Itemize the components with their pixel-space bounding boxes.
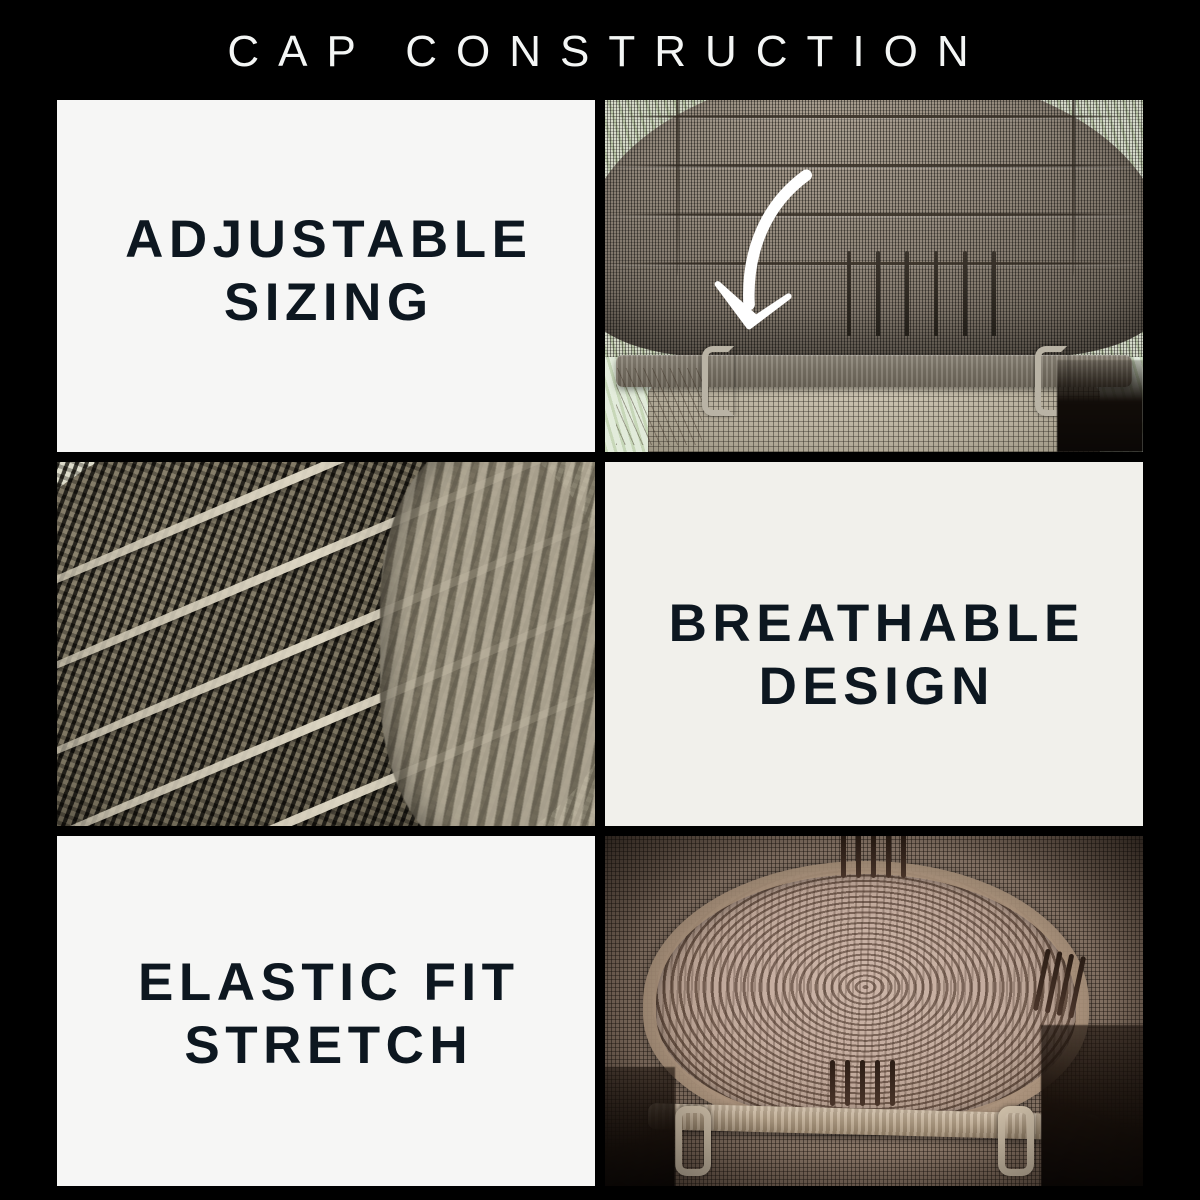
comb-tooth [876, 251, 880, 335]
comb-tooth [905, 251, 909, 335]
feature-photo-adjustable-strap [605, 100, 1143, 452]
feature-line-1: ADJUSTABLE [120, 209, 533, 272]
feature-cell-adjustable-sizing: ADJUSTABLE SIZING [57, 100, 595, 452]
feature-cell-elastic-fit-stretch: ELASTIC FIT STRETCH [57, 836, 595, 1186]
stray-hair-strands [616, 368, 702, 445]
feature-line-2: SIZING [120, 272, 533, 335]
feature-grid: ADJUSTABLE SIZING [57, 100, 1143, 1186]
poster-header: CAP CONSTRUCTION [0, 0, 1200, 100]
feature-line-1: BREATHABLE [663, 593, 1085, 656]
feature-line-2: DESIGN [663, 656, 1085, 719]
comb-tooth [934, 251, 938, 335]
cap-seam [605, 115, 1143, 118]
feature-label-elastic-fit-stretch: ELASTIC FIT STRETCH [133, 952, 520, 1077]
feature-photo-cap-interior [605, 836, 1143, 1186]
feature-line-1: ELASTIC FIT [133, 952, 520, 1015]
ruched-fabric-edge [380, 462, 595, 826]
feature-line-2: STRETCH [133, 1015, 520, 1078]
comb-tooth [992, 251, 996, 335]
feature-label-breathable-design: BREATHABLE DESIGN [663, 593, 1085, 718]
hair-strands [1057, 360, 1143, 452]
feature-photo-breathable-mesh [57, 462, 595, 826]
comb-tooth [963, 251, 967, 335]
down-arrow-icon [670, 163, 874, 367]
feature-cell-breathable-design: BREATHABLE DESIGN [605, 462, 1143, 826]
feature-label-adjustable-sizing: ADJUSTABLE SIZING [120, 209, 533, 334]
page-title: CAP CONSTRUCTION [208, 30, 987, 74]
cap-construction-poster: CAP CONSTRUCTION ADJUSTABLE SIZING [0, 0, 1200, 1200]
cap-vertical-seam [1072, 100, 1075, 276]
photo-vignette [605, 836, 1143, 1186]
